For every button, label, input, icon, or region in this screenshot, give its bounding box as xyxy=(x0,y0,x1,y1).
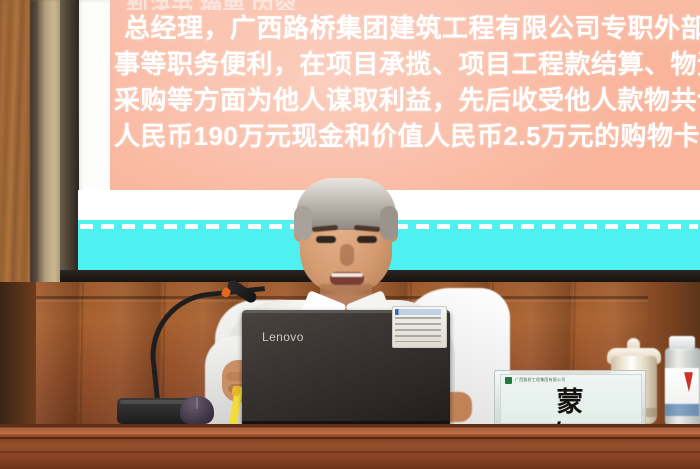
nose xyxy=(340,244,354,266)
nameplate-org-text: 广西路桥工程集团有限公司 xyxy=(515,377,565,383)
desk-groove-1 xyxy=(0,437,700,439)
hair-side-left xyxy=(294,206,312,240)
sticker-text-lines xyxy=(395,317,441,342)
screen-frame-left xyxy=(60,0,79,283)
mouse-button-split xyxy=(196,397,198,409)
sticker-header-bar xyxy=(395,309,441,315)
photo-scene: 判决书 摘要 内容 总经理，广西路桥集团建筑工程有限公司专职外部董 事等职务便利… xyxy=(0,0,700,469)
bottle-label-bottom xyxy=(665,404,699,416)
nameplate-org-row: 广西路桥工程集团有限公司 xyxy=(505,376,600,384)
bottle-label xyxy=(665,368,699,404)
eye-left xyxy=(316,236,336,243)
teeth xyxy=(331,273,363,277)
chin-shadow xyxy=(318,284,374,294)
hair-side-right xyxy=(380,206,398,240)
lenovo-logo: Lenovo xyxy=(262,330,304,344)
company-logo-icon xyxy=(505,377,512,384)
wall-left-shadow xyxy=(0,282,36,428)
desk-highlight xyxy=(0,428,700,434)
desk-groove-2 xyxy=(0,451,700,453)
eye-right xyxy=(357,236,377,243)
desk-top-edge xyxy=(0,424,700,427)
